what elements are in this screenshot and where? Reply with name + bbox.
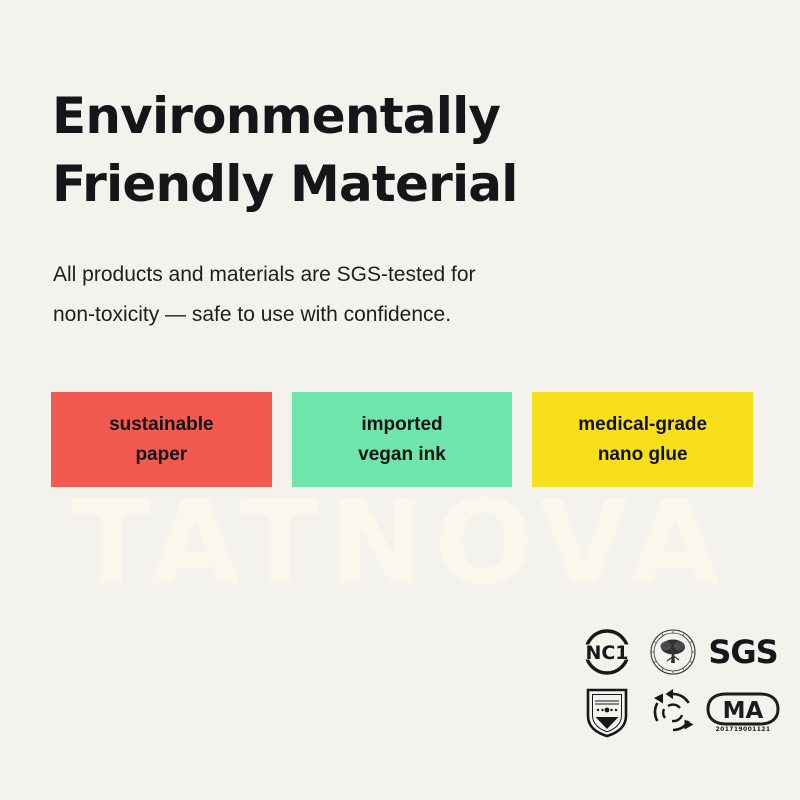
material-chip-line-1: medical-grade [578, 410, 707, 440]
description-text: All products and materials are SGS-teste… [53, 255, 693, 335]
page-title-line-1: Environmentally [52, 82, 752, 150]
material-chip-sustainable-paper: sustainable paper [51, 392, 272, 487]
material-chip-line-1: imported [361, 410, 442, 440]
sgs-wordmark-label: SGS [708, 636, 777, 668]
shield-certification-icon [574, 682, 640, 742]
material-chip-line-2: vegan ink [358, 440, 446, 470]
sgs-icon: SGS [706, 622, 780, 682]
cma-icon: MA 201719001121 [706, 682, 780, 742]
cma-certificate-number: 201719001121 [716, 727, 771, 733]
tree-seal-icon [640, 622, 706, 682]
poster-canvas: TATNOVA Environmentally Friendly Materia… [0, 0, 800, 800]
certification-badge-grid: NC1 [574, 622, 780, 742]
svg-text:NC1: NC1 [585, 642, 628, 664]
material-chip-line-2: nano glue [598, 440, 688, 470]
material-chip-medical-grade-nano-glue: medical-grade nano glue [532, 392, 753, 487]
description-line-2: non-toxicity — safe to use with confiden… [53, 295, 693, 335]
svg-text:MA: MA [723, 698, 764, 724]
material-chip-imported-vegan-ink: imported vegan ink [292, 392, 513, 487]
page-title-line-2: Friendly Material [52, 150, 752, 218]
material-chip-line-1: sustainable [109, 410, 214, 440]
material-chip-group: sustainable paper imported vegan ink med… [51, 392, 753, 487]
nc1-icon: NC1 [574, 622, 640, 682]
material-chip-line-2: paper [135, 440, 187, 470]
recycle-icon [640, 682, 706, 742]
description-line-1: All products and materials are SGS-teste… [53, 255, 693, 295]
brand-watermark: TATNOVA [0, 486, 800, 602]
page-title: Environmentally Friendly Material [52, 82, 752, 218]
